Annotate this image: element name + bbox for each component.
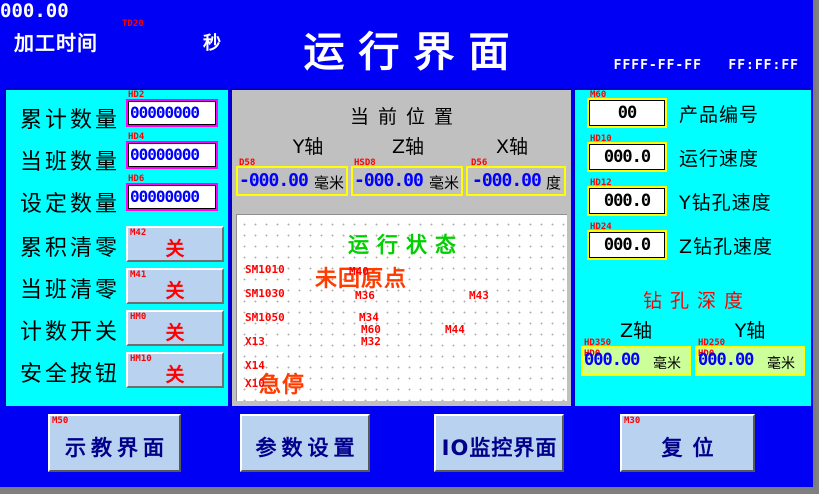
run-speed-value: 000.0: [590, 147, 664, 167]
axis-label-y: Y轴: [260, 132, 356, 159]
target-count-label: 设定数量: [20, 186, 120, 218]
row-shift-count: 当班数量 HD4 00000000: [6, 138, 228, 182]
total-reset-toggle[interactable]: M42 关: [126, 226, 224, 262]
bit-tag-sm1050: SM1050: [245, 311, 285, 324]
shift-count-value: 00000000: [130, 145, 199, 164]
position-z-value: -000.00: [354, 170, 423, 192]
main-panel: 加工时间 TD20 000.00 秒 运行界面 FFFF-FF-FF FF:FF…: [0, 0, 816, 490]
run-speed-register-tag: HD10: [590, 135, 612, 144]
nav-teach-screen-label: 示教界面: [50, 432, 179, 462]
run-state-title: 运行状态: [237, 229, 567, 259]
y-drill-speed-register-tag: HD12: [590, 179, 612, 188]
bit-tag-x10: X10: [245, 377, 265, 390]
target-count-register-tag: HD6: [128, 175, 144, 184]
safety-button-toggle[interactable]: HM10 关: [126, 352, 224, 388]
drill-depth-y-unit: 毫米: [767, 353, 795, 373]
position-x-register-tag: D56: [471, 159, 487, 168]
product-number-value: 00: [590, 103, 664, 123]
count-switch-toggle[interactable]: HM0 关: [126, 310, 224, 346]
run-speed-label: 运行速度: [679, 144, 759, 171]
total-count-label: 累计数量: [20, 102, 120, 134]
shift-count-register-tag: HD4: [128, 133, 144, 142]
bit-tag-sm1030: SM1030: [245, 287, 285, 300]
axis-label-x: X轴: [464, 132, 560, 159]
bit-tag-m44: M44: [445, 323, 465, 336]
drill-depth-title: 钻孔深度: [575, 286, 811, 313]
z-drill-speed-field[interactable]: HD24 000.0: [587, 230, 667, 260]
shift-count-label: 当班数量: [20, 144, 120, 176]
bit-tag-sm1010: SM1010: [245, 263, 285, 276]
drill-depth-y-value: 000.00: [698, 350, 753, 371]
row-z-drill-speed: HD24 000.0 Z钻孔速度: [575, 228, 811, 270]
run-speed-field[interactable]: HD10 000.0: [587, 142, 667, 172]
nav-reset-label: 复位: [622, 432, 753, 462]
z-drill-speed-value: 000.0: [590, 235, 664, 255]
product-number-label: 产品编号: [679, 100, 759, 127]
drill-depth-field-z[interactable]: HD350 HD0 000.00 毫米: [581, 346, 691, 376]
nav-io-monitor-label: IO监控界面: [436, 432, 562, 462]
total-reset-state: 关: [128, 234, 222, 261]
row-count-switch: 计数开关 HM0 关: [6, 308, 228, 352]
row-shift-reset: 当班清零 M41 关: [6, 266, 228, 310]
product-number-register-tag: M60: [590, 91, 606, 100]
z-drill-speed-label: Z钻孔速度: [679, 232, 773, 259]
drill-depth-z-value: 000.00: [584, 350, 639, 371]
nav-reset-register-tag: M30: [624, 417, 640, 426]
bit-tag-m36: M36: [355, 289, 375, 302]
z-drill-speed-register-tag: HD24: [590, 223, 612, 232]
safety-button-label: 安全按钮: [20, 356, 120, 388]
run-status-area: 运行状态 未回原点 急停 SM1010 SM1030 SM1050 X13 X1…: [236, 214, 567, 401]
nav-teach-screen-button[interactable]: M50 示教界面: [48, 414, 181, 472]
y-drill-speed-field[interactable]: HD12 000.0: [587, 186, 667, 216]
shift-count-field[interactable]: HD4 00000000: [126, 141, 218, 169]
bit-tag-m32: M32: [361, 335, 381, 348]
total-count-field[interactable]: HD2 00000000: [126, 99, 218, 127]
position-field-z[interactable]: HSD8 -000.00 毫米: [351, 166, 463, 196]
bit-tag-x14: X14: [245, 359, 265, 372]
row-target-count: 设定数量 HD6 00000000: [6, 180, 228, 224]
position-x-unit: 度: [546, 172, 561, 193]
emergency-stop-indicator: 急停: [259, 367, 305, 399]
position-field-y[interactable]: D58 -000.00 毫米: [236, 166, 348, 196]
position-field-x[interactable]: D56 -000.00 度: [466, 166, 566, 196]
count-switch-state: 关: [128, 318, 222, 345]
y-drill-speed-label: Y钻孔速度: [679, 188, 772, 215]
nav-teach-register-tag: M50: [52, 417, 68, 426]
shift-reset-label: 当班清零: [20, 272, 120, 304]
total-count-register-tag: HD2: [128, 91, 144, 100]
total-reset-label: 累积清零: [20, 230, 120, 262]
nav-parameter-settings-button[interactable]: 参数设置: [240, 414, 370, 472]
nav-reset-button[interactable]: M30 复位: [620, 414, 755, 472]
position-z-unit: 毫米: [429, 172, 459, 193]
center-position-panel: 当前位置 Y轴 Z轴 X轴 D58 -000.00 毫米 HSD8 -000.0…: [230, 88, 571, 406]
row-product-number: M60 HD0 00 产品编号: [575, 96, 811, 138]
position-x-value: -000.00: [472, 170, 541, 192]
datetime-display: FFFF-FF-FF FF:FF:FF: [614, 58, 799, 73]
drill-depth-field-y[interactable]: HD250 HD0 000.00 毫米: [695, 346, 805, 376]
safety-button-state: 关: [128, 360, 222, 387]
current-position-title: 当前位置: [232, 102, 571, 129]
shift-reset-toggle[interactable]: M41 关: [126, 268, 224, 304]
left-counter-column: 累计数量 HD2 00000000 当班数量 HD4 00000000: [4, 88, 228, 406]
bit-tag-m43: M43: [469, 289, 489, 302]
position-y-unit: 毫米: [314, 172, 344, 193]
y-drill-speed-value: 000.0: [590, 191, 664, 211]
hmi-screen: 加工时间 TD20 000.00 秒 运行界面 FFFF-FF-FF FF:FF…: [0, 0, 819, 494]
header-bar: 加工时间 TD20 000.00 秒 运行界面 FFFF-FF-FF FF:FF…: [0, 0, 813, 88]
drill-depth-z-unit: 毫米: [653, 353, 681, 373]
row-run-speed: HD10 000.0 运行速度: [575, 140, 811, 182]
target-count-field[interactable]: HD6 00000000: [126, 183, 218, 211]
axis-label-z: Z轴: [360, 132, 456, 159]
total-count-value: 00000000: [130, 103, 199, 122]
position-z-register-tag: HSD8: [354, 159, 376, 168]
row-safety-button: 安全按钮 HM10 关: [6, 350, 228, 394]
shift-reset-state: 关: [128, 276, 222, 303]
row-total-reset: 累积清零 M42 关: [6, 224, 228, 268]
bit-tag-m40: M40: [349, 265, 369, 278]
target-count-value: 00000000: [130, 187, 199, 206]
right-parameter-column: M60 HD0 00 产品编号 HD10 000.0 运行速度: [573, 88, 811, 406]
row-y-drill-speed: HD12 000.0 Y钻孔速度: [575, 184, 811, 226]
drill-depth-z-register-tag: HD350: [584, 339, 611, 348]
position-y-register-tag: D58: [239, 159, 255, 168]
nav-io-monitor-button[interactable]: IO监控界面: [434, 414, 564, 472]
product-number-field[interactable]: M60 HD0 00: [587, 98, 667, 128]
position-y-value: -000.00: [239, 170, 308, 192]
count-switch-label: 计数开关: [20, 314, 120, 346]
nav-parameter-settings-label: 参数设置: [242, 432, 368, 462]
bit-tag-x13: X13: [245, 335, 265, 348]
drill-depth-y-register-tag: HD250: [698, 339, 725, 348]
row-total-count: 累计数量 HD2 00000000: [6, 96, 228, 140]
